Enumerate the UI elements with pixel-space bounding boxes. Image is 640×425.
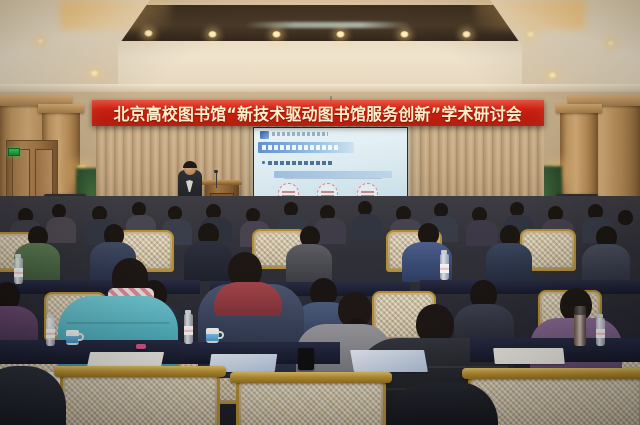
attendee-head — [132, 202, 146, 216]
downlight-icon — [90, 70, 99, 77]
slide-bullet-line-1 — [268, 161, 334, 165]
cove-light-left — [60, 0, 170, 30]
attendee-head — [358, 201, 372, 215]
ceiling — [0, 0, 640, 92]
attendee-head — [510, 202, 524, 216]
bottle-cap — [15, 254, 21, 258]
pillar-cap-left-inner — [38, 104, 84, 113]
bottle-label — [440, 264, 449, 273]
attendee-torso — [286, 244, 332, 282]
podium-top — [202, 180, 242, 185]
event-banner-text: 北京高校图书馆“新技术驱动图书馆服务创新”学术研讨会 — [114, 101, 522, 125]
downlight-icon — [208, 31, 217, 38]
attendee-head — [52, 204, 66, 218]
water-bottle — [46, 318, 55, 346]
mobile-phone — [136, 344, 146, 349]
attendee-head — [618, 210, 633, 225]
audience-area — [0, 196, 640, 425]
jacket-quilt-line — [66, 322, 170, 324]
slide-diagram-bar — [274, 171, 392, 178]
downlight-icon — [462, 31, 471, 38]
downlight-icon — [400, 31, 409, 38]
attendee-head — [246, 208, 260, 222]
banquet-chair-foreground — [60, 372, 220, 425]
downlight-icon — [526, 31, 535, 38]
banquet-chair-foreground — [236, 378, 386, 425]
bottle-cap — [185, 310, 191, 314]
cove-light-right — [475, 0, 585, 30]
attendee-head — [434, 203, 448, 217]
ceiling-light-strip — [245, 22, 410, 28]
downlight-icon — [606, 40, 615, 47]
attendee-torso — [352, 214, 382, 240]
event-banner: 北京高校图书馆“新技术驱动图书馆服务创新”学术研讨会 — [92, 100, 544, 126]
water-bottle — [596, 318, 605, 346]
downlight-icon — [548, 72, 557, 79]
attendee-torso — [46, 217, 76, 243]
bottle-label — [46, 329, 55, 338]
attendee-red-vest — [214, 282, 282, 316]
exit-sign-icon — [8, 148, 20, 156]
bottle-label — [596, 329, 605, 338]
attendee-head — [284, 202, 298, 216]
bottle-label — [14, 268, 23, 277]
bottle-label — [184, 326, 193, 335]
chair-mesh — [241, 383, 381, 425]
handout-paper — [493, 348, 565, 364]
vacuum-thermos — [574, 312, 586, 346]
handout-paper — [350, 350, 428, 372]
downlight-icon — [144, 30, 153, 37]
attendee-torso — [184, 241, 232, 281]
slide-connector — [284, 178, 382, 179]
water-bottle — [184, 314, 193, 344]
attendee-torso — [486, 243, 532, 281]
downlight-icon — [336, 31, 345, 38]
water-bottle — [440, 254, 449, 280]
mobile-phone — [298, 348, 314, 370]
slide-logo-icon — [260, 131, 269, 139]
attendee-torso — [466, 220, 498, 246]
slide-bullet-dot — [262, 161, 265, 164]
attendee-torso — [582, 244, 630, 284]
pillar-cap-right-inner — [556, 104, 602, 113]
slide-title-text — [262, 145, 340, 150]
bottle-cap — [597, 314, 603, 318]
bottle-cap — [47, 314, 53, 318]
attendee-head — [168, 206, 182, 220]
water-bottle — [14, 258, 23, 284]
downlight-icon — [272, 31, 281, 38]
chair-rail — [230, 372, 392, 383]
slide-logo-text — [272, 132, 328, 136]
door-panel — [12, 149, 30, 201]
presenter-hair — [183, 161, 197, 168]
microphone-icon — [214, 170, 218, 173]
microphone-stand — [216, 172, 217, 188]
chair-rail — [54, 366, 226, 377]
conference-table — [420, 280, 640, 294]
bottle-cap — [441, 250, 447, 254]
conference-hall-photo: 北京高校图书馆“新技术驱动图书馆服务创新”学术研讨会 — [0, 0, 640, 425]
chair-rail — [462, 368, 640, 379]
downlight-icon — [36, 38, 45, 45]
thermos-cap — [574, 306, 586, 315]
chair-mesh — [65, 377, 215, 425]
